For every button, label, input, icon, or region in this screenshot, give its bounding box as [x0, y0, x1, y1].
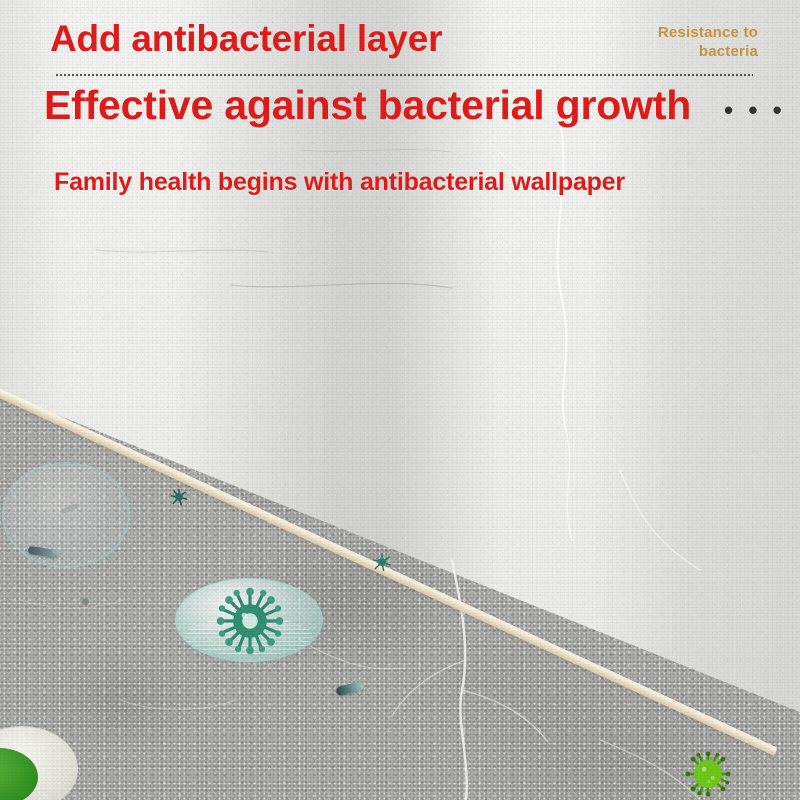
- poster-canvas: Add antibacterial layer Effective agains…: [0, 0, 800, 800]
- bacteria-cluster-small: [170, 488, 188, 506]
- virus-bottom-right: [684, 750, 732, 798]
- resistance-badge-line-1: Resistance to: [606, 24, 758, 43]
- resistance-badge: Resistance to bacteria: [606, 24, 758, 62]
- bacteria-speck-b: [82, 598, 89, 605]
- bacteria-cluster-mid: [372, 552, 392, 572]
- headline-line-2: Effective against bacterial growth: [44, 82, 691, 129]
- virus-in-bubble-main: [215, 586, 285, 656]
- resistance-badge-line-2: bacteria: [606, 43, 758, 62]
- ellipsis-dots: • • •: [724, 97, 786, 123]
- dotted-divider: [55, 74, 753, 76]
- subtitle-line: Family health begins with antibacterial …: [54, 168, 625, 197]
- headline-line-1: Add antibacterial layer: [50, 18, 442, 60]
